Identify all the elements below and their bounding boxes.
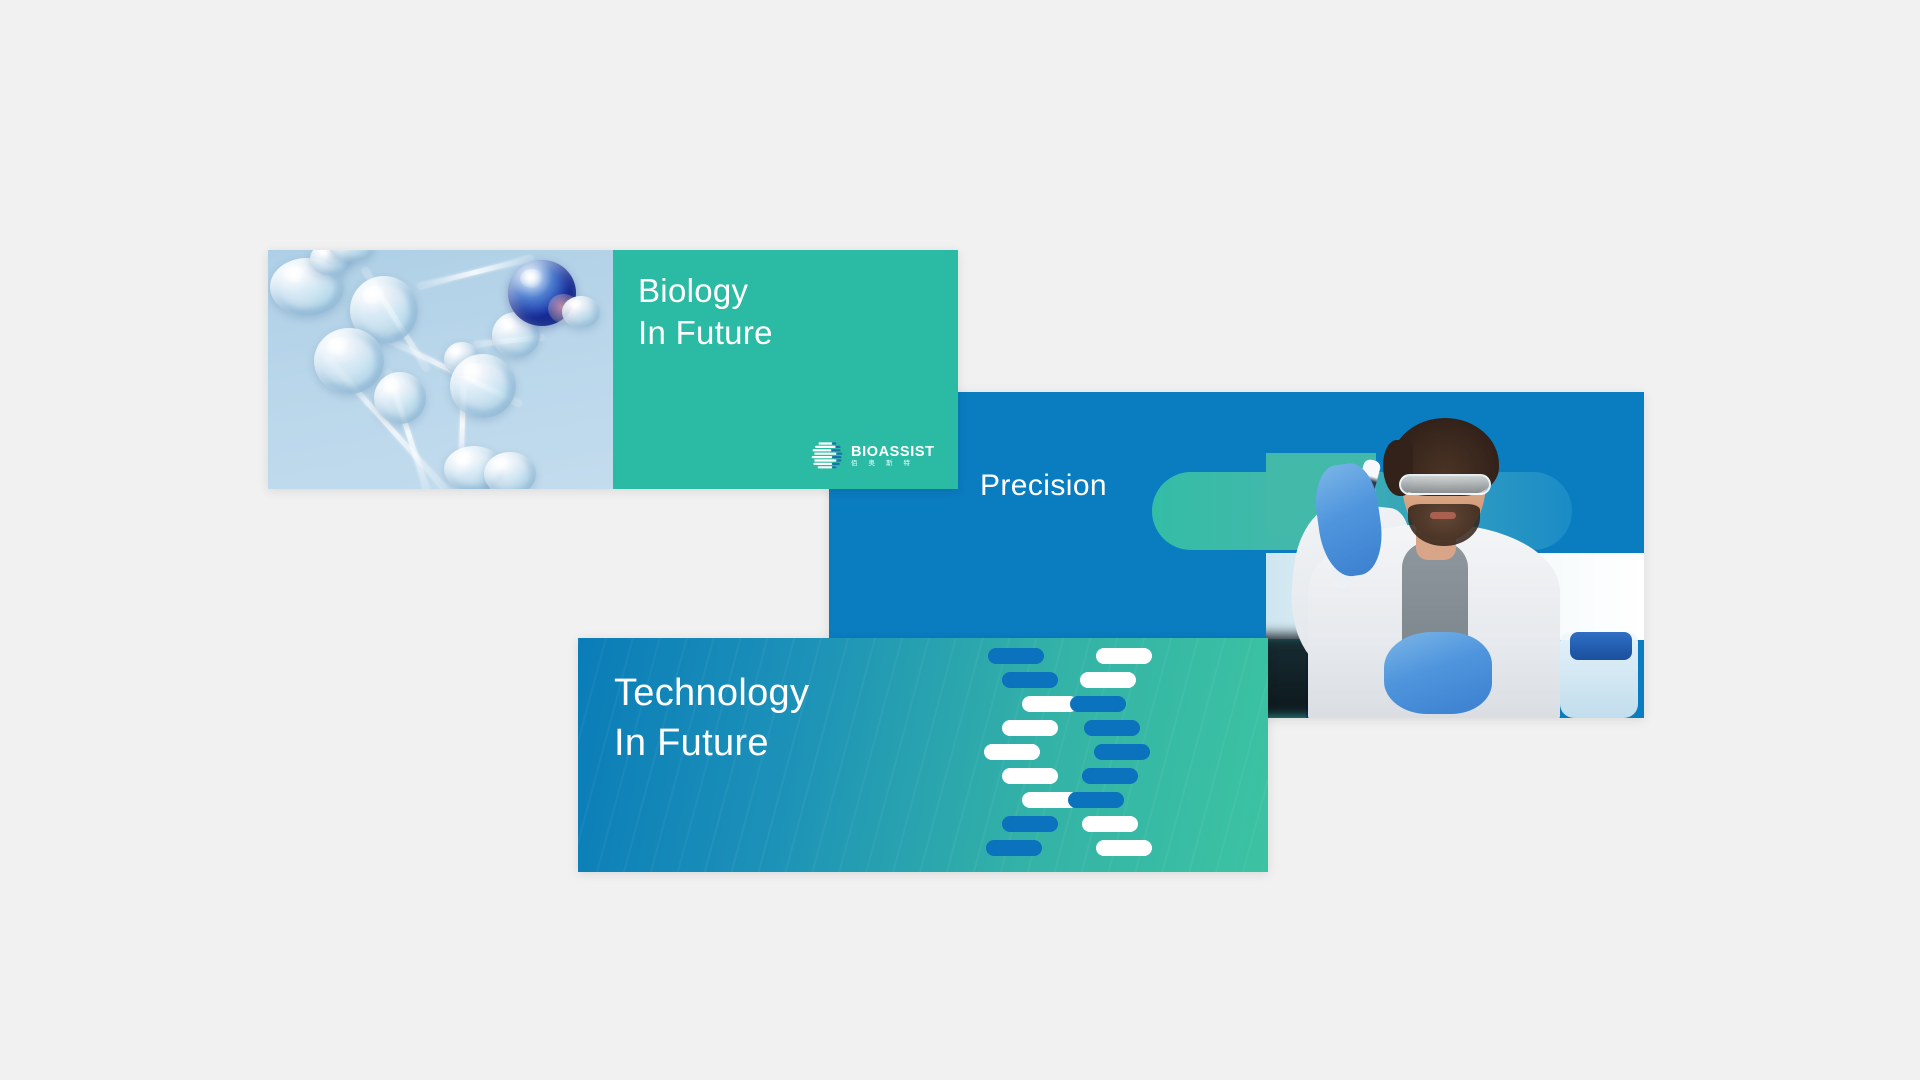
precision-photo (1266, 392, 1644, 718)
gel-band (1084, 720, 1140, 736)
gel-band (1070, 696, 1126, 712)
gel-band (988, 648, 1044, 664)
molecule-atom (314, 328, 384, 394)
molecule-atom (562, 296, 600, 328)
molecule-photo (268, 250, 613, 489)
gel-band (986, 840, 1042, 856)
gel-band (984, 744, 1040, 760)
glove-hand-lower (1384, 632, 1492, 714)
gel-band (1080, 672, 1136, 688)
gel-band (1068, 792, 1124, 808)
bioassist-logo[interactable]: BIOASSIST 佰 奥 斯 特 (810, 439, 935, 473)
safety-goggles-icon (1399, 474, 1491, 495)
molecule-atom (450, 354, 516, 418)
gel-band (1096, 840, 1152, 856)
molecule-atom (484, 452, 536, 489)
logo-subtitle: 佰 奥 斯 特 (851, 461, 935, 468)
molecule-atom (374, 372, 426, 424)
biology-text-panel: Biology In Future (613, 250, 958, 489)
logo-wordmark: BIOASSIST 佰 奥 斯 特 (851, 445, 935, 467)
gel-band (1096, 648, 1152, 664)
gel-band (1002, 816, 1058, 832)
dna-gel-pattern (980, 646, 1160, 866)
gel-band (1002, 768, 1058, 784)
gel-band (1094, 744, 1150, 760)
bioassist-logo-mark-icon (810, 439, 844, 473)
molecular-model-illustration (268, 250, 613, 489)
gel-band (1002, 672, 1058, 688)
biology-title: Biology In Future (638, 270, 773, 354)
scientist-figure (1266, 392, 1644, 718)
gel-band (1002, 720, 1058, 736)
scientist-mouth (1430, 512, 1456, 519)
gel-band (1082, 816, 1138, 832)
reagent-bottle-cap (1570, 632, 1632, 660)
technology-card[interactable]: Technology In Future (578, 638, 1268, 872)
gel-band (1082, 768, 1138, 784)
biology-card[interactable]: Biology In Future (268, 250, 958, 489)
logo-name: BIOASSIST (851, 445, 935, 460)
technology-title: Technology In Future (614, 668, 809, 768)
precision-title: Precision (980, 469, 1107, 503)
canvas: Precision (0, 0, 1920, 1080)
